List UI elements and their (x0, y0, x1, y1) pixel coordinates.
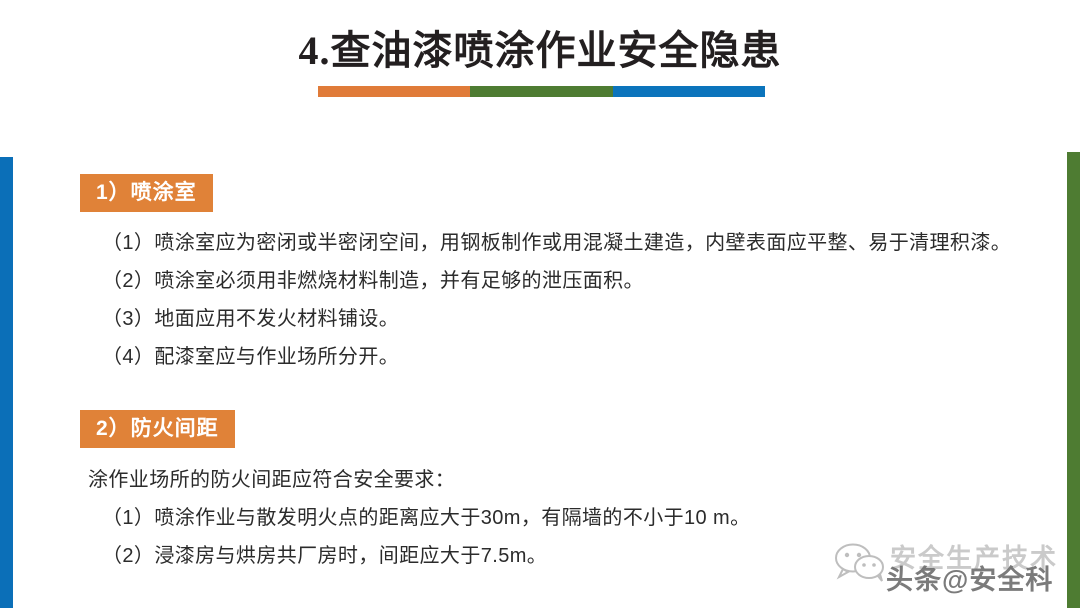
left-accent-bar (0, 157, 13, 608)
right-accent-bar (1067, 152, 1080, 608)
section-2-line-2: （2）浸漆房与烘房共厂房时，间距应大于7.5m。 (102, 543, 547, 569)
section-1-line-4: （4）配漆室应与作业场所分开。 (102, 344, 399, 370)
watermark-back-text: 安全生产技术 (890, 538, 1058, 575)
section-2-line-1: （1）喷涂作业与散发明火点的距离应大于30m，有隔墙的不小于10 m。 (102, 505, 751, 531)
wechat-icon (834, 542, 886, 582)
rule-segment-orange (318, 86, 470, 97)
rule-segment-blue (613, 86, 765, 97)
slide-canvas: 4.查油漆喷涂作业安全隐患 1）喷涂室 （1）喷涂室应为密闭或半密闭空间，用钢板… (0, 0, 1080, 608)
rule-segment-green (470, 86, 613, 97)
section-badge-2: 2）防火间距 (80, 410, 235, 448)
section-1-line-2: （2）喷涂室必须用非燃烧材料制造，并有足够的泄压面积。 (102, 268, 644, 294)
watermark-front-text: 头条@安全科 (886, 558, 1053, 597)
section-1-line-1: （1）喷涂室应为密闭或半密闭空间，用钢板制作或用混凝土建造，内壁表面应平整、易于… (102, 230, 1011, 256)
title-underline-rule (318, 86, 765, 97)
section-badge-1: 1）喷涂室 (80, 174, 213, 212)
page-title: 4.查油漆喷涂作业安全隐患 (0, 18, 1080, 76)
section-1-line-3: （3）地面应用不发火材料铺设。 (102, 306, 399, 332)
section-2-intro: 涂作业场所的防火间距应符合安全要求： (88, 467, 455, 493)
watermark: 安全生产技术 头条@安全科 (828, 536, 1068, 608)
